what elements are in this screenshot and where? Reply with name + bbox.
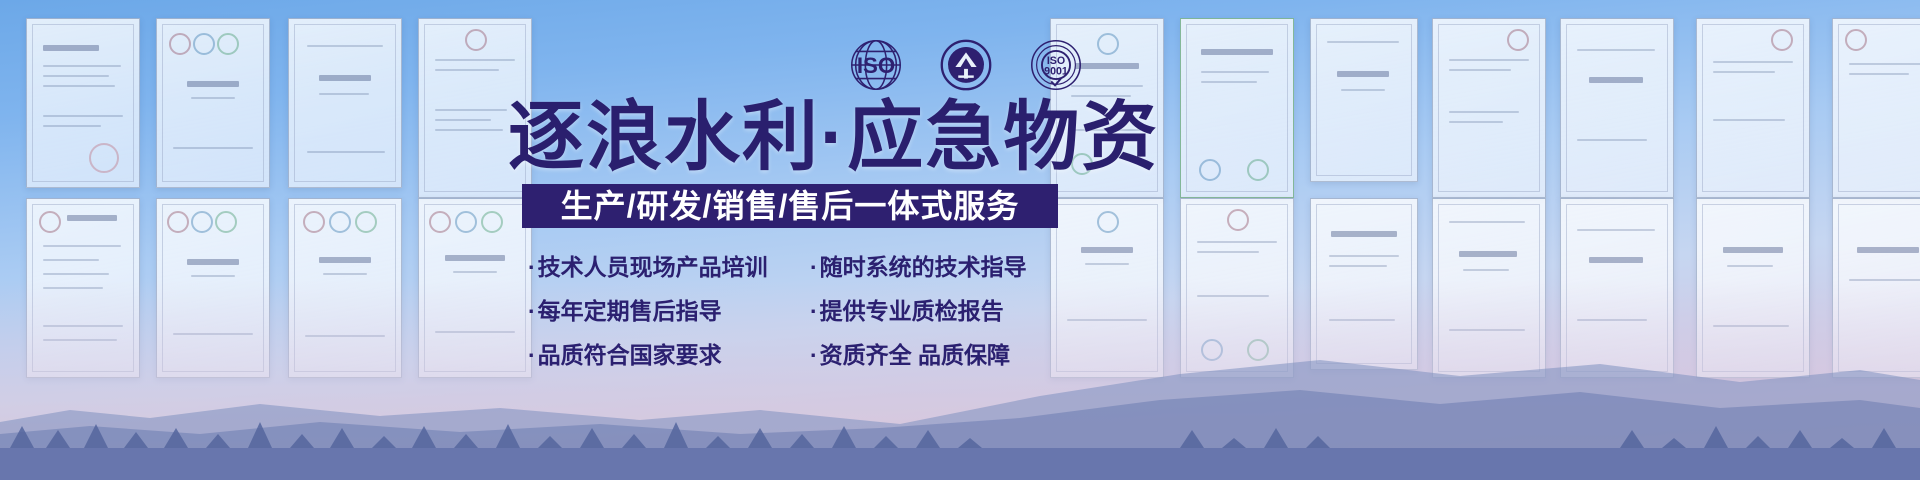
- certification-logo-icon: [465, 29, 487, 51]
- certificate-text-line: [435, 69, 499, 71]
- certificate-text-line: [1713, 61, 1793, 63]
- certificate-title-line: [1589, 257, 1643, 263]
- certificate-title-line: [187, 81, 239, 87]
- certificate-title-line: [1081, 247, 1133, 253]
- certificate-text-line: [435, 129, 503, 131]
- certification-logo-icon: [1199, 159, 1221, 181]
- certificate-title-line: [445, 255, 505, 261]
- certificate-text-line: [1197, 295, 1269, 297]
- certification-logo-icon: [1097, 33, 1119, 55]
- certificate-text-line: [43, 85, 115, 87]
- certification-logo-icon: [355, 211, 377, 233]
- certificate-text-line: [307, 45, 383, 47]
- certification-logo-icon: [167, 211, 189, 233]
- certificate-text-line: [1849, 63, 1920, 65]
- feature-item: · 技术人员现场产品培训: [528, 246, 810, 288]
- feature-item-label: 随时系统的技术指导: [820, 256, 1027, 279]
- certification-logo-icon: [215, 211, 237, 233]
- certificate-thumbnail: [26, 18, 140, 188]
- certificate-title-line: [67, 215, 117, 221]
- iso-globe-badge-icon: ISO: [845, 34, 907, 96]
- certificate-text-line: [43, 125, 101, 127]
- certificate-frame: [294, 24, 396, 182]
- certificate-title-line: [187, 259, 239, 265]
- certificate-text-line: [1577, 319, 1647, 321]
- certification-logo-icon: [1097, 211, 1119, 233]
- certificate-text-line: [1449, 121, 1503, 123]
- certificate-title-line: [1459, 251, 1517, 257]
- certificate-text-line: [319, 93, 369, 95]
- banner-headline: 逐浪水利·应急物资: [508, 100, 1159, 176]
- bullet-icon: ·: [528, 300, 536, 323]
- feature-item-label: 每年定期售后指导: [538, 300, 722, 323]
- certificate-text-line: [1329, 265, 1387, 267]
- certificate-text-line: [43, 287, 103, 289]
- certificate-text-line: [1577, 229, 1655, 231]
- certification-logo-icon: [429, 211, 451, 233]
- certificate-text-line: [1197, 241, 1277, 243]
- certificate-text-line: [1577, 139, 1647, 141]
- feature-item-label: 提供专业质检报告: [820, 300, 1004, 323]
- bullet-icon: ·: [810, 256, 818, 279]
- certificate-text-line: [1463, 269, 1509, 271]
- feature-item-label: 资质齐全 品质保障: [820, 344, 1010, 367]
- certificate-title-line: [1331, 231, 1397, 237]
- certificate-text-line: [1713, 325, 1789, 327]
- certification-logo-icon: [217, 33, 239, 55]
- certification-logo-icon: [1845, 29, 1867, 51]
- certificate-title-line: [1857, 247, 1919, 253]
- promo-banner: ISO ISO 9001 逐浪水利·应急物资 生产/研发/销售/售后一体式服务 …: [0, 0, 1920, 480]
- certification-badge-row: ISO ISO 9001: [845, 34, 1087, 96]
- feature-item: · 每年定期售后指导: [528, 290, 810, 332]
- certificate-text-line: [191, 275, 235, 277]
- certification-logo-icon: [1227, 209, 1249, 231]
- certificate-text-line: [43, 115, 123, 117]
- feature-list: · 技术人员现场产品培训 · 随时系统的技术指导 · 每年定期售后指导 · 提供…: [528, 246, 1068, 376]
- certificate-title-line: [43, 45, 99, 51]
- bullet-icon: ·: [810, 344, 818, 367]
- certification-logo-icon: [455, 211, 477, 233]
- certificate-text-line: [43, 259, 99, 261]
- certification-logo-icon: [1507, 29, 1529, 51]
- certificate-text-line: [1329, 319, 1395, 321]
- certificate-text-line: [1449, 69, 1511, 71]
- feature-item-label: 技术人员现场产品培训: [538, 256, 768, 279]
- certificate-text-line: [1713, 71, 1775, 73]
- certificate-title-line: [1589, 77, 1643, 83]
- certificate-text-line: [1727, 265, 1773, 267]
- feature-item-label: 品质符合国家要求: [538, 344, 722, 367]
- feature-item: · 随时系统的技术指导: [810, 246, 1068, 288]
- certification-logo-icon: [1771, 29, 1793, 51]
- certificate-text-line: [1449, 59, 1529, 61]
- certificate-text-line: [1197, 251, 1259, 253]
- certificate-text-line: [1341, 89, 1385, 91]
- certification-logo-icon: [481, 211, 503, 233]
- feature-item: · 提供专业质检报告: [810, 290, 1068, 332]
- certificate-text-line: [43, 273, 109, 275]
- certificate-title-line: [1723, 247, 1783, 253]
- certificate-frame: [1438, 24, 1540, 192]
- certificate-text-line: [1849, 73, 1909, 75]
- certificate-text-line: [435, 119, 491, 121]
- certificate-text-line: [435, 59, 515, 61]
- certificate-text-line: [191, 97, 235, 99]
- iso-9001-badge-icon: ISO 9001: [1025, 34, 1087, 96]
- certificate-thumbnail: [1696, 18, 1810, 198]
- certificate-text-line: [1067, 319, 1147, 321]
- certification-logo-icon: [329, 211, 351, 233]
- certificate-text-line: [43, 75, 109, 77]
- certificate-text-line: [1327, 41, 1399, 43]
- certificate-title-line: [1337, 71, 1389, 77]
- bullet-icon: ·: [528, 256, 536, 279]
- certificate-text-line: [43, 325, 123, 327]
- certificate-seal: [89, 143, 119, 173]
- certificate-text-line: [43, 65, 121, 67]
- certificate-thumbnail: [1832, 18, 1920, 198]
- certificate-thumbnail: [156, 18, 270, 188]
- certificate-text-line: [435, 109, 507, 111]
- certificate-text-line: [1449, 221, 1525, 223]
- certification-logo-icon: [39, 211, 61, 233]
- certificate-text-line: [323, 273, 367, 275]
- certification-logo-icon: [1247, 159, 1269, 181]
- svg-text:9001: 9001: [1044, 66, 1068, 78]
- certificate-text-line: [307, 151, 385, 153]
- feature-item: · 品质符合国家要求: [528, 334, 810, 376]
- certificate-thumbnail: [1180, 18, 1294, 198]
- certificate-text-line: [43, 245, 121, 247]
- certificate-text-line: [1201, 81, 1257, 83]
- certificate-text-line: [1085, 263, 1129, 265]
- certification-logo-icon: [169, 33, 191, 55]
- certificate-text-line: [1577, 49, 1655, 51]
- iso-14000-environment-badge-icon: [935, 34, 997, 96]
- certificate-text-line: [1329, 255, 1399, 257]
- certification-logo-icon: [303, 211, 325, 233]
- svg-text:ISO: ISO: [857, 53, 895, 78]
- banner-subtitle-bar: 生产/研发/销售/售后一体式服务: [522, 184, 1058, 228]
- certificate-thumbnail: [1432, 18, 1546, 198]
- certificate-frame: [1702, 24, 1804, 192]
- certificate-text-line: [1713, 119, 1785, 121]
- certificate-title-line: [319, 75, 371, 81]
- certificate-title-line: [1201, 49, 1273, 55]
- certificate-text-line: [1201, 71, 1269, 73]
- banner-subtitle-text: 生产/研发/销售/售后一体式服务: [561, 190, 1020, 222]
- certificate-text-line: [1449, 111, 1519, 113]
- certificate-thumbnail: [288, 18, 402, 188]
- certificate-frame: [1316, 24, 1412, 176]
- bullet-icon: ·: [810, 300, 818, 323]
- certificate-thumbnail: [1560, 18, 1674, 198]
- certificate-text-line: [173, 147, 253, 149]
- certification-logo-icon: [193, 33, 215, 55]
- feature-item: · 资质齐全 品质保障: [810, 334, 1068, 376]
- certification-logo-icon: [191, 211, 213, 233]
- certificate-title-line: [319, 257, 371, 263]
- certificate-text-line: [453, 271, 497, 273]
- certificate-thumbnail: [1310, 18, 1418, 182]
- bullet-icon: ·: [528, 344, 536, 367]
- certificate-text-line: [1849, 279, 1920, 281]
